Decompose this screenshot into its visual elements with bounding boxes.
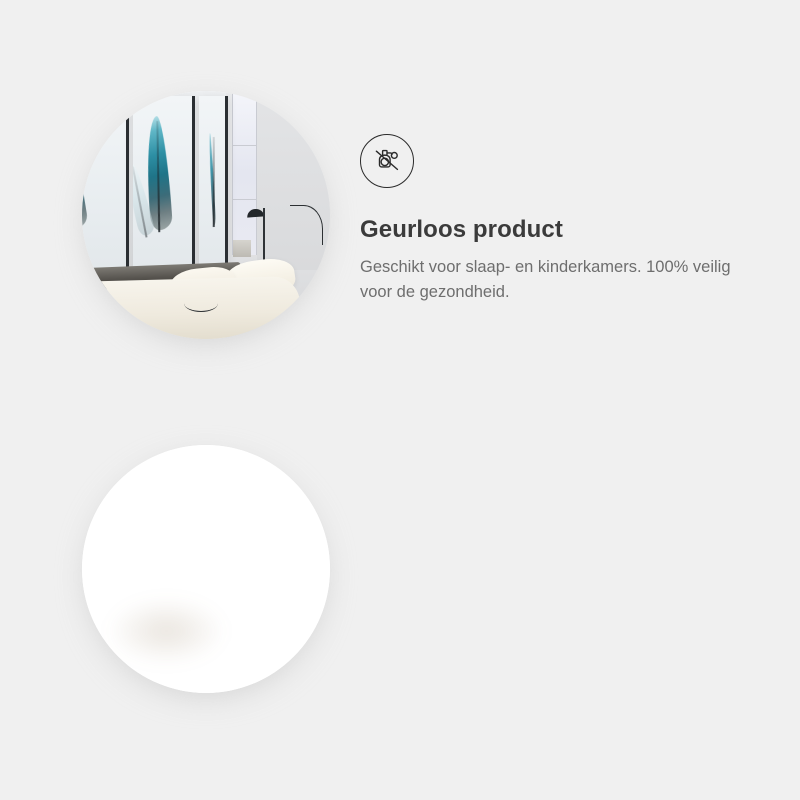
wire-left bbox=[184, 294, 219, 311]
no-perfume-icon bbox=[360, 134, 414, 188]
art-panel-1 bbox=[82, 96, 129, 280]
window bbox=[232, 91, 257, 255]
bedroom-scene bbox=[82, 91, 330, 339]
wooden-beams-scene bbox=[82, 445, 330, 693]
feature-description: Geschikt voor slaap- en kinderkamers. 10… bbox=[360, 255, 752, 305]
panel-edge bbox=[126, 96, 129, 280]
feature-title: Geurloos product bbox=[360, 216, 760, 245]
panel-edge bbox=[192, 96, 195, 280]
panel-edge bbox=[225, 96, 228, 280]
contact-shadow bbox=[92, 589, 241, 673]
feature-text-column: Geurloos product Geschikt voor slaap- en… bbox=[360, 134, 760, 304]
nightstand bbox=[233, 240, 250, 257]
feature-block-odourless-product: Geurloos product Geschikt voor slaap- en… bbox=[0, 0, 800, 400]
feature-block-solid-construction: Solide constructie Vervaardigd uit de ho… bbox=[0, 400, 800, 800]
art-panel-3 bbox=[199, 96, 229, 280]
product-feature-infographic: Geurloos product Geschikt voor slaap- en… bbox=[0, 0, 800, 800]
feature-image-solid-construction bbox=[82, 445, 330, 693]
feather-graphic bbox=[82, 121, 89, 229]
lamp-stem bbox=[263, 208, 265, 263]
circular-image-mask bbox=[82, 445, 330, 693]
feather-graphic bbox=[208, 133, 216, 225]
art-panel-2 bbox=[133, 96, 195, 280]
circular-image-mask bbox=[82, 91, 330, 339]
feature-image-odourless-product bbox=[82, 91, 330, 339]
